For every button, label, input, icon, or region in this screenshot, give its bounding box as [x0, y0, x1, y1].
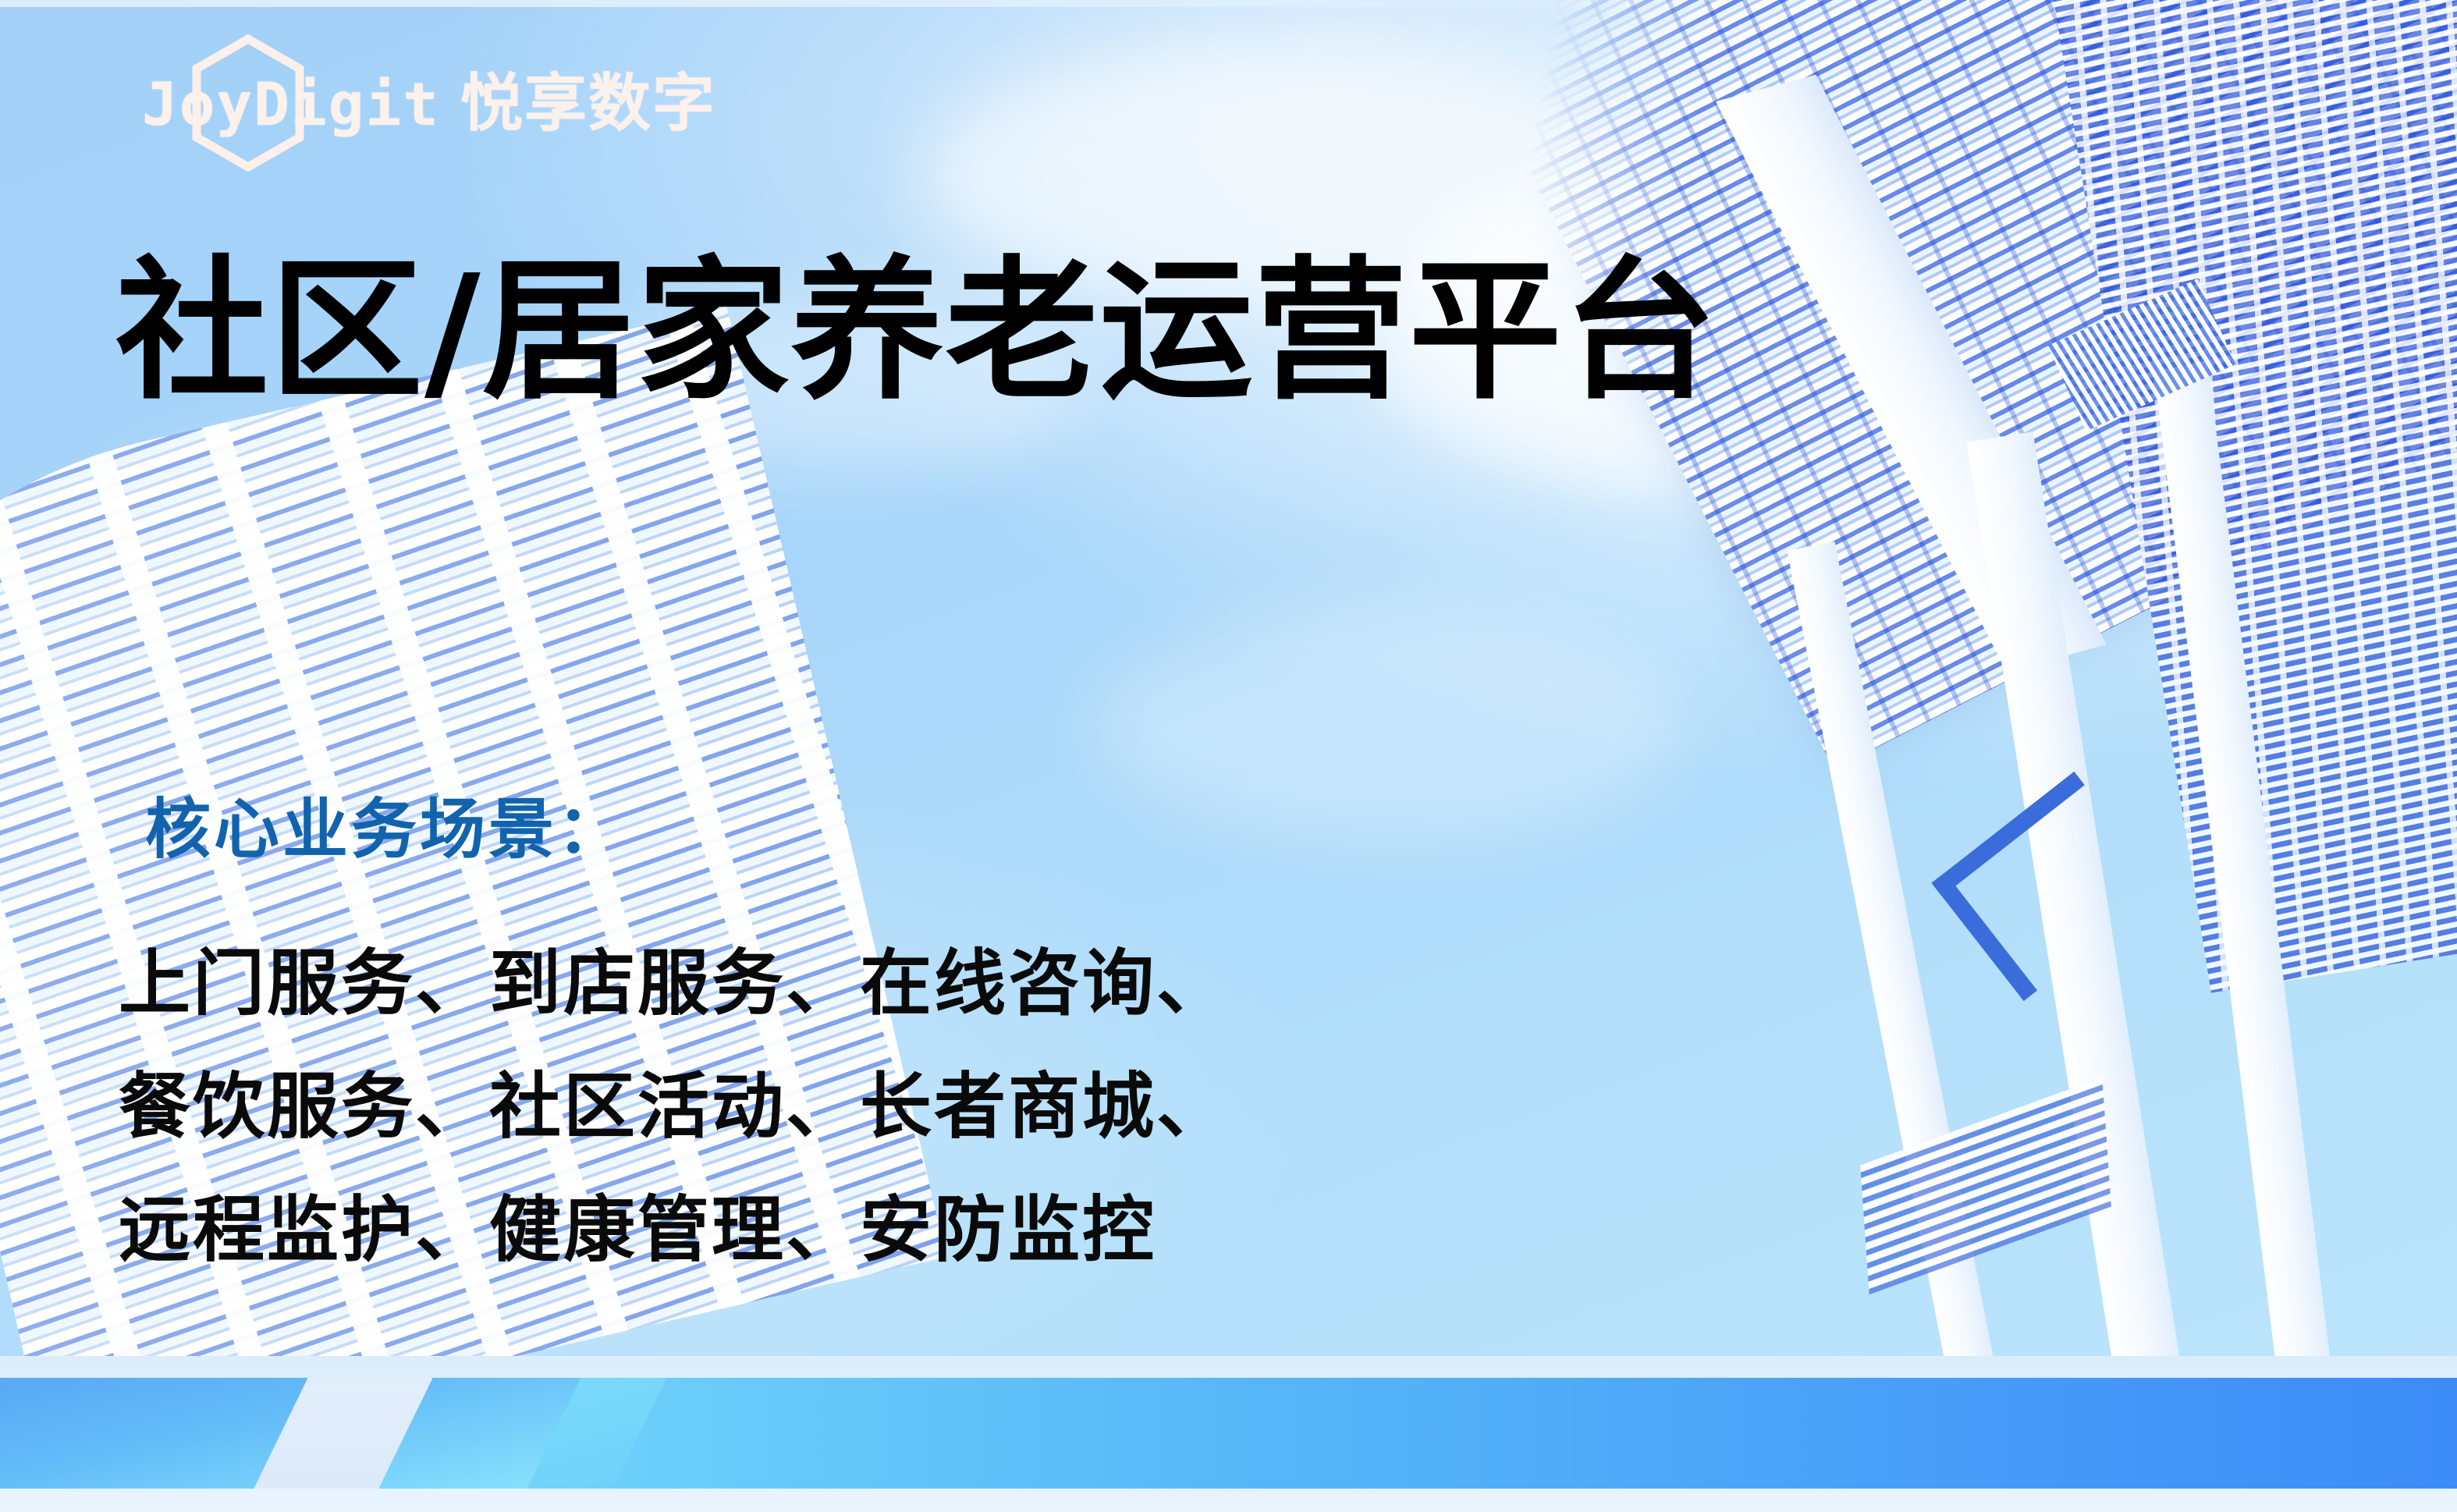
scenario-line: 上门服务、到店服务、在线咨询、 [119, 922, 1230, 1045]
bottom-decorative-band [0, 1356, 2457, 1512]
scenario-line: 远程监护、健康管理、安防监控 [119, 1169, 1230, 1292]
scenario-list: 上门服务、到店服务、在线咨询、 餐饮服务、社区活动、长者商城、 远程监护、健康管… [119, 922, 1230, 1293]
brand-logo-chinese: 悦享数字 [460, 69, 716, 138]
scenario-line: 餐饮服务、社区活动、长者商城、 [119, 1045, 1230, 1169]
brand-logo-latin: JoyDigit [142, 69, 440, 139]
section-label: 核心业务场景： [145, 777, 626, 871]
brand-logo-text: JoyDigit悦享数字 [142, 53, 716, 144]
page-title: 社区/居家养老运营平台 [115, 250, 1718, 415]
presentation-slide: JoyDigit悦享数字 社区/居家养老运营平台 核心业务场景： 上门服务、到店… [0, 0, 2457, 1512]
brand-logo[interactable]: JoyDigit悦享数字 [142, 33, 704, 158]
